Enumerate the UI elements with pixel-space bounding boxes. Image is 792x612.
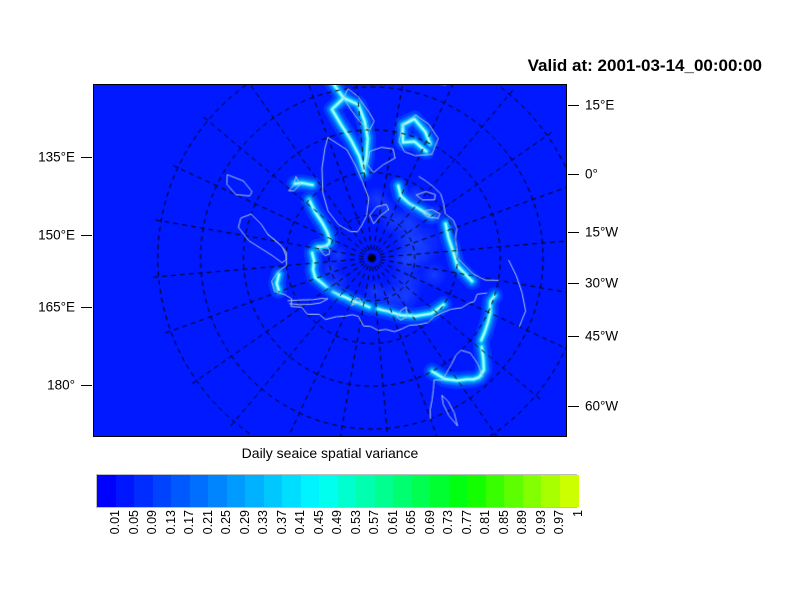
- colorbar-tick-label: 0.45: [313, 510, 326, 534]
- left-axis-label: 180°: [0, 378, 75, 392]
- page-title: Valid at: 2001-03-14_00:00:00: [528, 56, 762, 76]
- colorbar-band: [134, 475, 153, 507]
- colorbar-band: [541, 475, 560, 507]
- right-axis-tick: [568, 283, 579, 284]
- colorbar-tick-label: 0.77: [461, 510, 474, 534]
- colorbar-band: [97, 475, 116, 507]
- colorbar-band: [338, 475, 357, 507]
- colorbar-band: [449, 475, 468, 507]
- colorbar-tick-label: 0.37: [276, 510, 289, 534]
- colorbar-tick-label: 0.01: [109, 510, 122, 534]
- seaice-variance-map: [94, 85, 566, 436]
- colorbar-tick-label: 0.73: [442, 510, 455, 534]
- left-axis-tick: [81, 385, 92, 386]
- left-axis-label: 150°E: [0, 228, 75, 242]
- colorbar-band: [504, 475, 523, 507]
- colorbar-tick-label: 0.13: [165, 510, 178, 534]
- colorbar-band: [356, 475, 375, 507]
- colorbar-band: [227, 475, 246, 507]
- colorbar-band: [412, 475, 431, 507]
- colorbar-tick-label: 0.53: [350, 510, 363, 534]
- colorbar-band: [393, 475, 412, 507]
- left-axis-label: 135°E: [0, 150, 75, 164]
- colorbar-band: [301, 475, 320, 507]
- colorbar-band: [467, 475, 486, 507]
- right-axis-label: 15°W: [585, 225, 618, 239]
- right-axis-label: 30°W: [585, 276, 618, 290]
- left-axis-tick: [81, 157, 92, 158]
- colorbar-tick-label: 0.09: [146, 510, 159, 534]
- colorbar-band: [171, 475, 190, 507]
- right-axis-tick: [568, 174, 579, 175]
- colorbar-gradient: [96, 474, 577, 508]
- colorbar-tick-label: 0.65: [405, 510, 418, 534]
- colorbar-band: [560, 475, 579, 507]
- colorbar-band: [486, 475, 505, 507]
- colorbar-band: [430, 475, 449, 507]
- colorbar-tick-label: 0.81: [479, 510, 492, 534]
- right-axis-tick: [568, 232, 579, 233]
- colorbar-tick-label: 0.57: [368, 510, 381, 534]
- colorbar-tick-label: 0.21: [202, 510, 215, 534]
- colorbar-band: [153, 475, 172, 507]
- left-axis-tick: [81, 307, 92, 308]
- colorbar-band: [190, 475, 209, 507]
- colorbar-band: [523, 475, 542, 507]
- colorbar-tick-label: 0.41: [294, 510, 307, 534]
- colorbar-tick-label: 0.85: [498, 510, 511, 534]
- right-axis-label: 0°: [585, 167, 598, 181]
- right-axis-label: 15°E: [585, 98, 614, 112]
- right-axis-tick: [568, 105, 579, 106]
- colorbar-tick-label: 0.97: [553, 510, 566, 534]
- map-plot-area: [93, 84, 567, 437]
- right-axis-label: 45°W: [585, 329, 618, 343]
- colorbar-tick-label: 0.49: [331, 510, 344, 534]
- colorbar-caption: Daily seaice spatial variance: [93, 445, 567, 461]
- colorbar: 0.010.050.090.130.170.210.250.290.330.37…: [96, 474, 577, 508]
- right-axis-label: 60°W: [585, 399, 618, 413]
- colorbar-tick-label: 0.61: [387, 510, 400, 534]
- colorbar-tick-label: 0.05: [128, 510, 141, 534]
- colorbar-tick-label: 0.25: [220, 510, 233, 534]
- colorbar-tick-label: 0.17: [183, 510, 196, 534]
- colorbar-band: [208, 475, 227, 507]
- colorbar-tick-label: 0.93: [535, 510, 548, 534]
- colorbar-tick-label: 1: [572, 510, 585, 517]
- colorbar-band: [319, 475, 338, 507]
- colorbar-tick-label: 0.33: [257, 510, 270, 534]
- colorbar-band: [375, 475, 394, 507]
- left-axis-label: 165°E: [0, 300, 75, 314]
- colorbar-tick-label: 0.29: [239, 510, 252, 534]
- colorbar-band: [282, 475, 301, 507]
- colorbar-tick-label: 0.69: [424, 510, 437, 534]
- colorbar-band: [264, 475, 283, 507]
- right-axis-tick: [568, 336, 579, 337]
- colorbar-band: [116, 475, 135, 507]
- colorbar-band: [245, 475, 264, 507]
- left-axis-tick: [81, 235, 92, 236]
- right-axis-tick: [568, 406, 579, 407]
- colorbar-tick-label: 0.89: [516, 510, 529, 534]
- colorbar-tick-labels: 0.010.050.090.130.170.210.250.290.330.37…: [96, 510, 577, 580]
